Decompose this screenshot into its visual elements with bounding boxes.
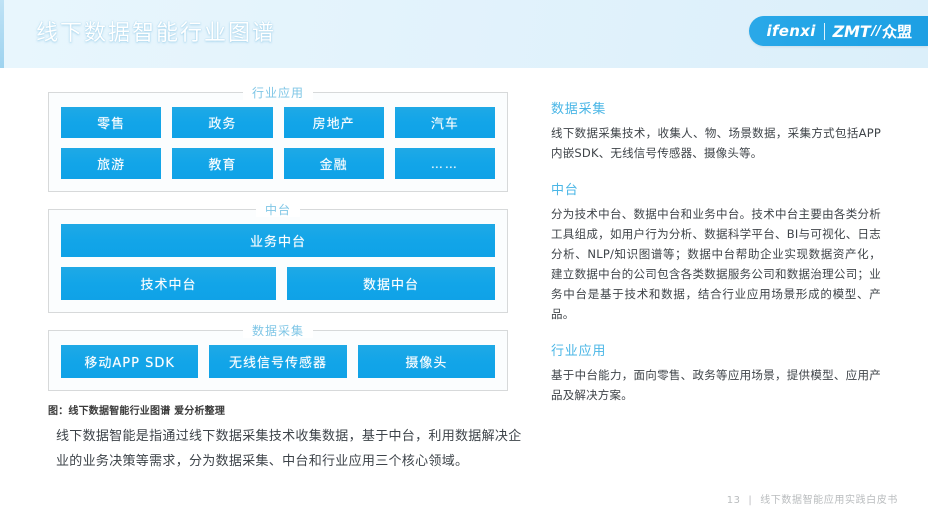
section-body: 基于中台能力，面向零售、政务等应用场景，提供模型、应用产品及解决方案。 — [551, 365, 881, 405]
diagram-cell-wireless-sensor[interactable]: 无线信号传感器 — [209, 345, 346, 378]
diagram-cell-tourism[interactable]: 旅游 — [61, 148, 161, 179]
diagram-cell-technology-middle-platform[interactable]: 技术中台 — [61, 267, 276, 300]
header-left-accent-bar — [0, 0, 4, 68]
slide-page: 线下数据智能行业图谱 ifenxi ZMT // 众盟 行业应用 零售 政务 房… — [0, 0, 928, 524]
diagram-cell-camera[interactable]: 摄像头 — [358, 345, 495, 378]
page-header: 线下数据智能行业图谱 ifenxi ZMT // 众盟 — [0, 0, 928, 68]
panel-middle-platform: 中台 业务中台 技术中台 数据中台 — [48, 209, 508, 313]
diagram-cell-education[interactable]: 教育 — [172, 148, 272, 179]
diagram-cell-mobile-app-sdk[interactable]: 移动APP SDK — [61, 345, 198, 378]
panel-label-industry-applications: 行业应用 — [49, 84, 507, 101]
diagram-cell-data-middle-platform[interactable]: 数据中台 — [287, 267, 495, 300]
section-heading: 数据采集 — [551, 98, 881, 117]
section-body: 分为技术中台、数据中台和业务中台。技术中台主要由各类分析工具组成，如用户行为分析… — [551, 204, 881, 324]
logo-zmt-text: ZMT — [833, 22, 871, 41]
brand-logo: ifenxi ZMT // 众盟 — [749, 16, 928, 46]
diagram-cell-more[interactable]: …… — [395, 148, 495, 179]
section-heading: 行业应用 — [551, 340, 881, 359]
panel-label-text: 数据采集 — [243, 324, 313, 338]
footer-document-title: 线下数据智能应用实践白皮书 — [760, 495, 898, 506]
diagram-row: 旅游 教育 金融 …… — [61, 148, 495, 179]
diagram-row: 业务中台 — [61, 224, 495, 257]
diagram-cell-government[interactable]: 政务 — [172, 107, 272, 138]
industry-map-diagram: 行业应用 零售 政务 房地产 汽车 旅游 教育 金融 …… 中台 业务中台 — [48, 92, 508, 417]
logo-slash-mark: // — [871, 24, 881, 39]
explanation-column: 数据采集 线下数据采集技术，收集人、物、场景数据，采集方式包括APP内嵌SDK、… — [551, 98, 881, 421]
page-footer: 13 | 线下数据智能应用实践白皮书 — [727, 491, 898, 506]
diagram-row: 移动APP SDK 无线信号传感器 摄像头 — [61, 345, 495, 378]
figure-caption: 图：线下数据智能行业图谱 爱分析整理 — [48, 402, 508, 417]
diagram-cell-retail[interactable]: 零售 — [61, 107, 161, 138]
summary-paragraph: 线下数据智能是指通过线下数据采集技术收集数据，基于中台，利用数据解决企业的业务决… — [56, 424, 526, 474]
explanation-section-data-collection: 数据采集 线下数据采集技术，收集人、物、场景数据，采集方式包括APP内嵌SDK、… — [551, 98, 881, 163]
logo-ifenxi-text: ifenxi — [767, 22, 816, 40]
panel-industry-applications: 行业应用 零售 政务 房地产 汽车 旅游 教育 金融 …… — [48, 92, 508, 192]
diagram-cell-real-estate[interactable]: 房地产 — [284, 107, 384, 138]
panel-label-text: 行业应用 — [243, 86, 313, 100]
explanation-section-industry-applications: 行业应用 基于中台能力，面向零售、政务等应用场景，提供模型、应用产品及解决方案。 — [551, 340, 881, 405]
explanation-section-middle-platform: 中台 分为技术中台、数据中台和业务中台。技术中台主要由各类分析工具组成，如用户行… — [551, 179, 881, 324]
logo-chinese-text: 众盟 — [882, 21, 912, 42]
diagram-row: 技术中台 数据中台 — [61, 267, 495, 300]
logo-divider — [824, 23, 825, 40]
panel-label-middle-platform: 中台 — [49, 201, 507, 218]
diagram-cell-automotive[interactable]: 汽车 — [395, 107, 495, 138]
footer-page-number: 13 — [727, 495, 741, 506]
panel-label-data-collection: 数据采集 — [49, 322, 507, 339]
page-title: 线下数据智能行业图谱 — [36, 19, 276, 49]
panel-data-collection: 数据采集 移动APP SDK 无线信号传感器 摄像头 — [48, 330, 508, 391]
section-body: 线下数据采集技术，收集人、物、场景数据，采集方式包括APP内嵌SDK、无线信号传… — [551, 123, 881, 163]
diagram-cell-business-middle-platform[interactable]: 业务中台 — [61, 224, 495, 257]
panel-label-text: 中台 — [256, 203, 300, 217]
footer-separator: | — [748, 495, 752, 506]
diagram-row: 零售 政务 房地产 汽车 — [61, 107, 495, 138]
section-heading: 中台 — [551, 179, 881, 198]
diagram-cell-finance[interactable]: 金融 — [284, 148, 384, 179]
